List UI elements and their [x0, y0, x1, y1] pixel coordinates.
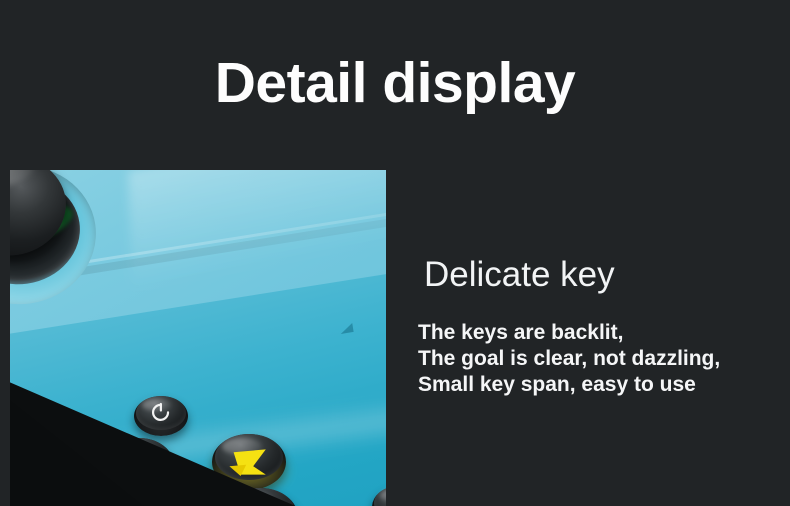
page-title: Detail display: [0, 52, 790, 114]
product-photo: [10, 170, 386, 506]
callout-line-2: The goal is clear, not dazzling,: [418, 346, 720, 372]
callout-body: The keys are backlit, The goal is clear,…: [418, 320, 720, 398]
detail-display-banner: Detail display: [0, 0, 790, 506]
power-button[interactable]: [134, 396, 188, 436]
callout-line-1: The keys are backlit,: [418, 320, 720, 346]
callout-line-3: Small key span, easy to use: [418, 372, 720, 398]
product-photo-canvas: [10, 170, 386, 506]
power-icon: [149, 402, 173, 423]
callout-heading: Delicate key: [424, 254, 615, 296]
